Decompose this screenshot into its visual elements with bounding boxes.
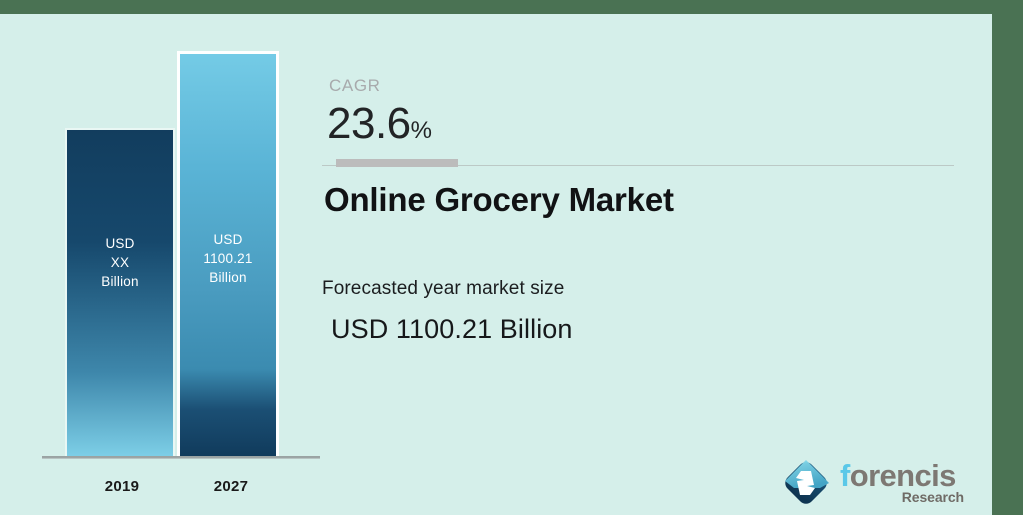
logo-name-initial: f bbox=[840, 458, 850, 493]
brand-logo: forencis Research bbox=[778, 449, 968, 515]
page-title: Online Grocery Market bbox=[324, 181, 674, 219]
bar-2027: USD 1100.21 Billion bbox=[177, 51, 279, 458]
section-divider bbox=[322, 159, 954, 168]
x-axis-tick-2019: 2019 bbox=[65, 478, 179, 495]
diamond-bolt-icon bbox=[780, 457, 832, 509]
bar-2019-unit: Billion bbox=[67, 272, 173, 291]
logo-wordmark: forencis Research bbox=[840, 459, 966, 509]
bar-2019-amount: XX bbox=[67, 253, 173, 272]
bar-2027-currency: USD bbox=[180, 230, 276, 249]
x-axis-tick-2027: 2027 bbox=[177, 478, 285, 495]
bar-2019-value-label: USD XX Billion bbox=[67, 234, 173, 291]
bar-2027-value-label: USD 1100.21 Billion bbox=[180, 230, 276, 287]
bar-2027-amount: 1100.21 bbox=[180, 249, 276, 268]
infographic-canvas: USD XX Billion USD 1100.21 Billion 2019 … bbox=[0, 14, 992, 515]
bar-chart: USD XX Billion USD 1100.21 Billion 2019 … bbox=[0, 14, 330, 515]
cagr-value: 23.6% bbox=[327, 100, 432, 155]
logo-name-rest: orencis bbox=[850, 458, 956, 493]
logo-name: forencis bbox=[840, 459, 956, 493]
forecast-caption: Forecasted year market size bbox=[322, 278, 564, 300]
infographic-frame: USD XX Billion USD 1100.21 Billion 2019 … bbox=[0, 0, 1023, 515]
bar-2027-unit: Billion bbox=[180, 268, 276, 287]
forecast-value: USD 1100.21 Billion bbox=[331, 314, 573, 345]
cagr-number: 23.6 bbox=[327, 99, 411, 148]
bar-2019-currency: USD bbox=[67, 234, 173, 253]
logo-subtitle: Research bbox=[902, 489, 964, 505]
cagr-label: CAGR bbox=[329, 76, 381, 96]
info-panel: CAGR 23.6% Online Grocery Market Forecas… bbox=[322, 14, 992, 515]
cagr-percent-symbol: % bbox=[411, 117, 432, 144]
bar-2019: USD XX Billion bbox=[65, 128, 175, 458]
divider-accent-stub bbox=[336, 159, 458, 167]
chart-axis-line bbox=[42, 456, 320, 459]
